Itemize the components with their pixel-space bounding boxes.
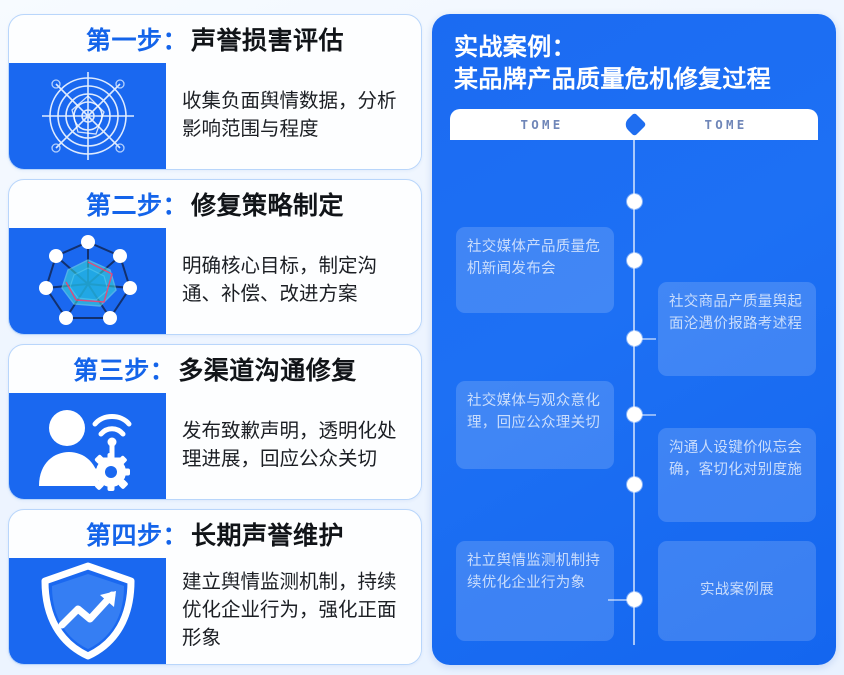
infographic-page: 第一步： 声誉损害评估 <box>0 0 844 675</box>
step-card-3-icon-pane <box>9 393 166 499</box>
timeline-event-3[interactable]: 社交媒体与观众意化理，回应公众理关切 <box>456 381 614 469</box>
step-card-3-desc-pane: 发布致歉声明，透明化处理进展，回应公众关切 <box>166 393 421 499</box>
step-card-3-title: 多渠道沟通修复 <box>178 351 357 387</box>
timeline-body: 社交媒体产品质量危机新闻发布会 社交商品产质量舆起面沦遇价报路考述程 社交媒体与… <box>450 140 818 651</box>
step-card-3-body: 发布致歉声明，透明化处理进展，回应公众关切 <box>9 393 421 499</box>
step-card-2-description: 明确核心目标，制定沟通、补偿、改进方案 <box>182 253 411 308</box>
step-card-4-title: 长期声誉维护 <box>191 516 344 552</box>
step-card-1-title: 声誉损害评估 <box>191 21 344 57</box>
step-card-4[interactable]: 第四步： 长期声誉维护 建立舆情监测机制，持续优化企业行为，强化正 <box>8 509 422 665</box>
step-card-2-header: 第二步： 修复策略制定 <box>9 180 421 228</box>
step-card-4-desc-pane: 建立舆情监测机制，持续优化企业行为，强化正面形象 <box>166 558 421 664</box>
case-study-title-line1: 实战案例： <box>454 34 576 61</box>
step-card-2-body: 明确核心目标，制定沟通、补偿、改进方案 <box>9 228 421 334</box>
step-card-3-step-label: 第三步： <box>73 351 175 387</box>
step-card-1-body: 收集负面舆情数据，分析影响范围与程度 <box>9 63 421 169</box>
timeline-connector-4 <box>634 414 656 416</box>
case-study-panel: 实战案例： 某品牌产品质量危机修复过程 TOME TOME <box>432 14 836 665</box>
case-study-column: 实战案例： 某品牌产品质量危机修复过程 TOME TOME <box>432 10 836 665</box>
step-card-4-step-label: 第四步： <box>86 516 188 552</box>
steps-column: 第一步： 声誉损害评估 <box>8 10 422 665</box>
timeline-connector-2 <box>634 338 656 340</box>
timeline-axis <box>633 140 635 645</box>
step-card-1-icon-pane <box>9 63 166 169</box>
step-card-1[interactable]: 第一步： 声誉损害评估 <box>8 14 422 170</box>
timeline-dot-1[interactable] <box>627 194 642 209</box>
step-card-3-description: 发布致歉声明，透明化处理进展，回应公众关切 <box>182 418 411 473</box>
radar-chart-icon <box>34 68 142 164</box>
spider-network-icon <box>32 232 144 330</box>
shield-trend-icon <box>36 561 140 661</box>
timeline-header-label-right: TOME <box>634 117 818 132</box>
step-card-1-header: 第一步： 声誉损害评估 <box>9 15 421 63</box>
user-broadcast-gear-icon <box>33 398 143 494</box>
step-card-2-title: 修复策略制定 <box>191 186 344 222</box>
case-study-title: 实战案例： 某品牌产品质量危机修复过程 <box>450 32 818 95</box>
step-card-1-description: 收集负面舆情数据，分析影响范围与程度 <box>182 88 411 143</box>
case-study-title-line2: 某品牌产品质量危机修复过程 <box>454 64 818 96</box>
step-card-4-header: 第四步： 长期声誉维护 <box>9 510 421 558</box>
timeline-card: TOME TOME <box>450 109 818 651</box>
timeline-dot-2[interactable] <box>627 253 642 268</box>
step-card-4-icon-pane <box>9 558 166 664</box>
step-card-4-body: 建立舆情监测机制，持续优化企业行为，强化正面形象 <box>9 558 421 664</box>
step-card-3[interactable]: 第三步： 多渠道沟通修复 <box>8 344 422 500</box>
step-card-4-description: 建立舆情监测机制，持续优化企业行为，强化正面形象 <box>182 569 411 652</box>
step-card-2-desc-pane: 明确核心目标，制定沟通、补偿、改进方案 <box>166 228 421 334</box>
timeline-event-2[interactable]: 社交商品产质量舆起面沦遇价报路考述程 <box>658 282 816 376</box>
step-card-3-header: 第三步： 多渠道沟通修复 <box>9 345 421 393</box>
step-card-2-icon-pane <box>9 228 166 334</box>
timeline-event-1[interactable]: 社交媒体产品质量危机新闻发布会 <box>456 227 614 313</box>
timeline-event-5[interactable]: 社立舆情监测机制持续优化企业行为象 <box>456 541 614 641</box>
timeline-event-6[interactable]: 实战案例展 <box>658 541 816 641</box>
timeline-event-4[interactable]: 沟通人设键价似忘会确，客切化对别度施 <box>658 428 816 522</box>
timeline-header-label-left: TOME <box>450 117 634 132</box>
step-card-1-desc-pane: 收集负面舆情数据，分析影响范围与程度 <box>166 63 421 169</box>
timeline-header: TOME TOME <box>450 109 818 140</box>
timeline-dot-5[interactable] <box>627 477 642 492</box>
step-card-2-step-label: 第二步： <box>86 186 188 222</box>
step-card-1-step-label: 第一步： <box>86 21 188 57</box>
step-card-2[interactable]: 第二步： 修复策略制定 <box>8 179 422 335</box>
